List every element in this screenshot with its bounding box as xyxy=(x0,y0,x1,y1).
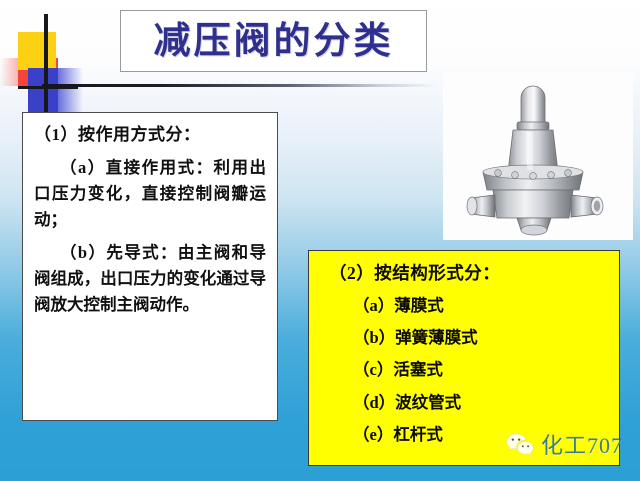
left-panel-heading: （1）按作用方式分： xyxy=(34,123,266,148)
left-panel-paragraph-a: （a）直接作用式：利用出口压力变化，直接控制阀瓣运动； xyxy=(34,155,266,233)
watermark: 化工707 xyxy=(505,428,623,460)
pressure-reducing-valve-illustration xyxy=(443,72,633,240)
deco-blue-square xyxy=(28,68,58,114)
slide-title-box: 减压阀的分类 xyxy=(120,10,427,72)
page-title: 减压阀的分类 xyxy=(154,23,394,60)
yellow-panel-heading: （2）按结构形式分： xyxy=(323,261,619,286)
slide-canvas: 减压阀的分类 xyxy=(0,0,640,481)
classification-by-action-panel: （1）按作用方式分： （a）直接作用式：利用出口压力变化，直接控制阀瓣运动； （… xyxy=(22,112,278,421)
valve-photo xyxy=(443,72,633,240)
header-divider-rule xyxy=(42,84,438,87)
watermark-text: 化工707 xyxy=(541,428,623,460)
yellow-panel-item-c: （c）活塞式 xyxy=(323,358,619,381)
yellow-panel-item-a: （a）薄膜式 xyxy=(323,294,619,317)
deco-yellow-square xyxy=(18,32,56,70)
deco-vertical-line xyxy=(44,14,48,122)
wechat-icon xyxy=(505,432,535,456)
yellow-panel-item-b: （b）弹簧薄膜式 xyxy=(323,326,619,349)
yellow-panel-item-d: （d）波纹管式 xyxy=(323,391,619,414)
decorative-corner-mark xyxy=(0,14,118,124)
left-panel-paragraph-b: （b）先导式：由主阀和导阀组成，出口压力的变化通过导阀放大控制主阀动作。 xyxy=(34,240,266,318)
